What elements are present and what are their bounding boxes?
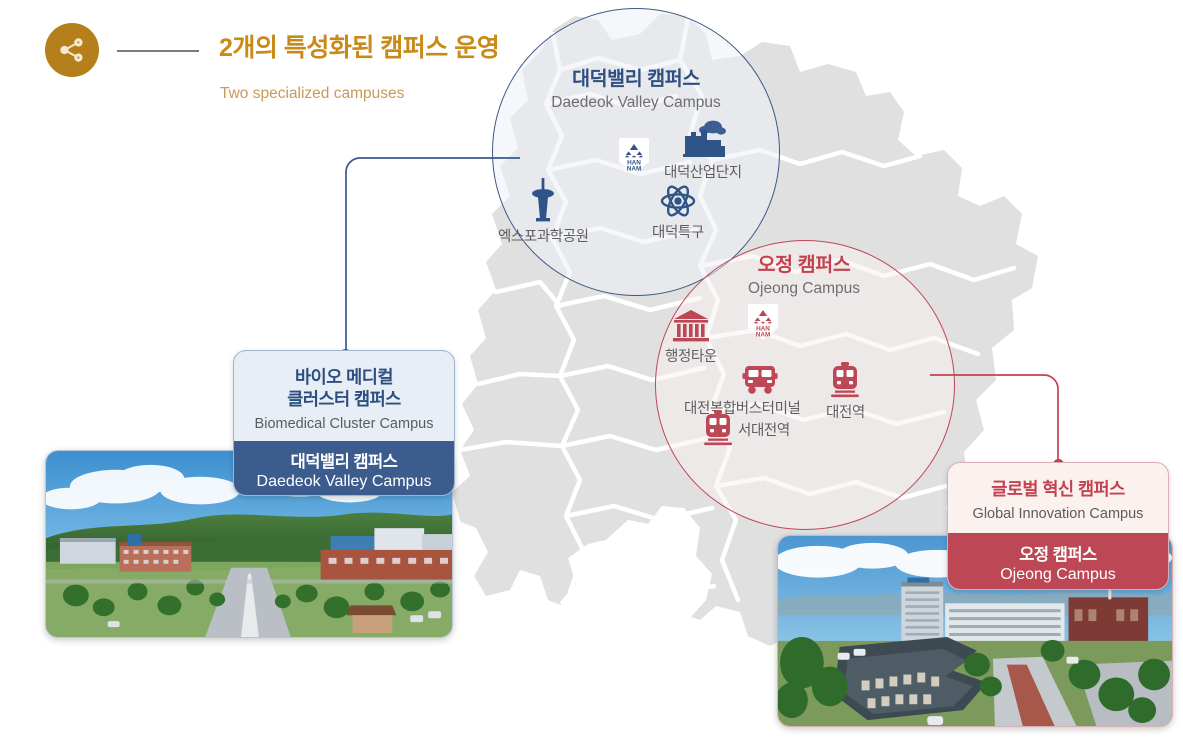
poi-seodaejeon-station[interactable]: 서대전역 xyxy=(702,410,790,448)
poi-label: 대전역 xyxy=(826,401,865,422)
card-title-kr-line1: 글로벌 혁신 캠퍼스 xyxy=(991,479,1125,499)
connector-line-left xyxy=(330,150,520,365)
connector-line-right xyxy=(930,368,1070,468)
tower-icon xyxy=(525,176,561,224)
card-band-en: Ojeong Campus xyxy=(948,566,1168,584)
zone-label-daedeok-valley: 대덕밸리 캠퍼스 Daedeok Valley Campus xyxy=(500,62,772,112)
card-header: 글로벌 혁신 캠퍼스 Global Innovation Campus xyxy=(948,463,1168,522)
poi-label: 대덕산업단지 xyxy=(664,161,742,182)
zone-title-en: Daedeok Valley Campus xyxy=(500,94,772,112)
header-divider-rule xyxy=(117,50,199,52)
card-header: 바이오 메디컬 클러스터 캠퍼스 Biomedical Cluster Camp… xyxy=(234,351,454,432)
train-icon xyxy=(829,362,861,400)
card-title-en: Biomedical Cluster Campus xyxy=(244,416,444,432)
hannam-shield-icon: HAN NAM xyxy=(746,302,780,347)
card-band-en: Daedeok Valley Campus xyxy=(234,473,454,491)
card-band-kr: 대덕밸리 캠퍼스 xyxy=(234,448,454,472)
page-subtitle: Two specialized campuses xyxy=(220,85,404,103)
poi-label: 서대전역 xyxy=(738,419,790,440)
bus-icon xyxy=(741,364,779,396)
poi-expo-science-park[interactable]: 엑스포과학공원 xyxy=(498,176,589,246)
factory-icon xyxy=(679,118,727,160)
zone-title-kr: 오정 캠퍼스 xyxy=(668,248,940,277)
poi-daedeok-innopolis[interactable]: 대덕특구 xyxy=(652,182,704,242)
poi-daejeon-station[interactable]: 대전역 xyxy=(826,362,865,422)
card-band-kr: 오정 캠퍼스 xyxy=(948,541,1168,565)
zone-title-en: Ojeong Campus xyxy=(668,280,940,298)
card-band: 대덕밸리 캠퍼스 Daedeok Valley Campus xyxy=(234,441,454,495)
svg-text:NAM: NAM xyxy=(627,165,642,172)
card-title-kr-line2: 클러스터 캠퍼스 xyxy=(287,389,401,409)
card-title-kr-line1: 바이오 메디컬 xyxy=(295,367,393,387)
poi-label: 엑스포과학공원 xyxy=(498,225,589,246)
zone-title-kr: 대덕밸리 캠퍼스 xyxy=(500,62,772,91)
poi-label: 행정타운 xyxy=(665,345,717,366)
card-band: 오정 캠퍼스 Ojeong Campus xyxy=(948,533,1168,589)
zone-label-ojeong: 오정 캠퍼스 Ojeong Campus xyxy=(668,248,940,298)
card-global-innovation-campus[interactable]: 글로벌 혁신 캠퍼스 Global Innovation Campus 오정 캠… xyxy=(947,462,1169,590)
poi-administrative-town[interactable]: 행정타운 xyxy=(665,308,717,366)
hannam-shield-icon: HAN NAM xyxy=(617,136,651,181)
svg-text:NAM: NAM xyxy=(756,331,771,338)
campus-map-infographic: 2개의 특성화된 캠퍼스 운영 Two specialized campuses… xyxy=(0,0,1183,747)
poi-label: 대덕특구 xyxy=(652,221,704,242)
card-title-en: Global Innovation Campus xyxy=(958,506,1158,522)
page-title: 2개의 특성화된 캠퍼스 운영 xyxy=(219,28,499,64)
share-network-icon xyxy=(45,23,99,77)
train-icon xyxy=(702,410,734,448)
poi-daedeok-industrial-complex[interactable]: 대덕산업단지 xyxy=(664,118,742,182)
card-biomedical-cluster-campus[interactable]: 바이오 메디컬 클러스터 캠퍼스 Biomedical Cluster Camp… xyxy=(233,350,455,496)
government-building-icon xyxy=(671,308,711,344)
atom-icon xyxy=(659,182,697,220)
